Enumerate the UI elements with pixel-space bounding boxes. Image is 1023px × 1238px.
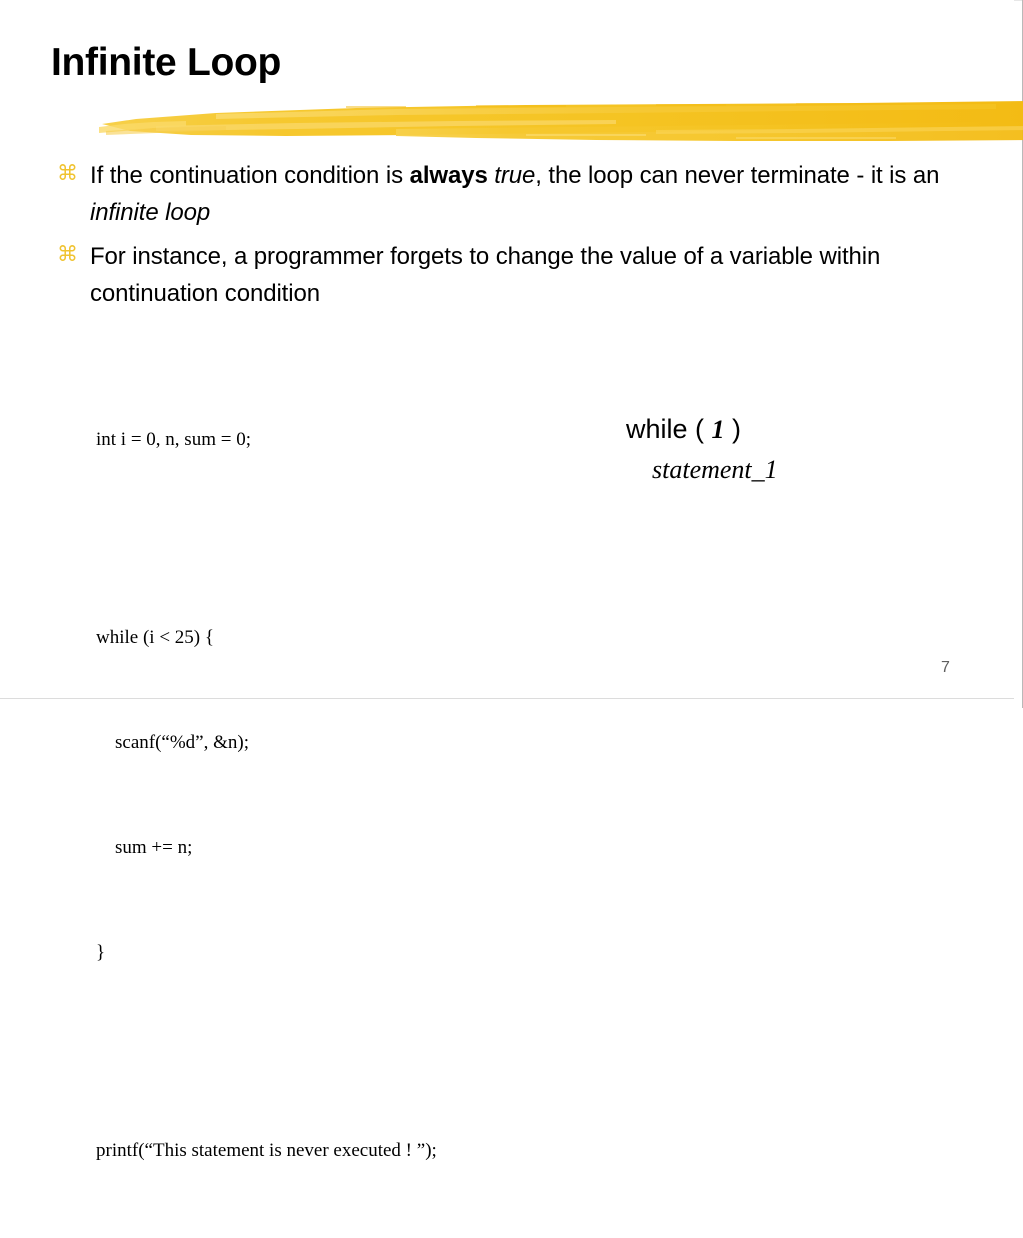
pseudo-open-paren: ( bbox=[688, 414, 712, 444]
code-example-block: int i = 0, n, sum = 0; while (i < 25) { … bbox=[96, 352, 437, 1238]
command-bullet-icon: ⌘ bbox=[57, 238, 90, 270]
list-item: ⌘ For instance, a programmer forgets to … bbox=[57, 238, 957, 312]
pseudo-code-header: while ( 1 ) bbox=[626, 412, 778, 447]
slide-top-border bbox=[1014, 0, 1022, 1]
bullet-segment: , the loop can never terminate - it is a… bbox=[535, 162, 939, 189]
bullet-text: For instance, a programmer forgets to ch… bbox=[90, 238, 957, 312]
pseudo-keyword: while bbox=[626, 414, 688, 444]
bullet-segment-bold: always bbox=[410, 162, 488, 189]
slide-title: Infinite Loop bbox=[51, 43, 281, 84]
code-blank-line bbox=[96, 527, 437, 550]
code-line: } bbox=[96, 935, 437, 970]
list-item: ⌘ If the continuation condition is alway… bbox=[57, 157, 957, 231]
brush-svg bbox=[96, 96, 1023, 148]
pseudo-code-block: while ( 1 ) statement_1 bbox=[626, 412, 778, 487]
code-line: while (i < 25) { bbox=[96, 620, 437, 655]
bullet-segment: If the continuation condition is bbox=[90, 162, 410, 189]
pseudo-condition: 1 bbox=[712, 415, 725, 444]
bullet-segment-italic: true bbox=[494, 162, 535, 189]
pseudo-code-body: statement_1 bbox=[652, 453, 778, 487]
slide-canvas: Infinite Loop bbox=[0, 0, 1023, 708]
command-bullet-icon: ⌘ bbox=[57, 157, 90, 189]
bullet-text: If the continuation condition is always … bbox=[90, 157, 957, 231]
code-line: sum += n; bbox=[96, 830, 437, 865]
yellow-brush-stroke-icon bbox=[96, 96, 1023, 148]
bullet-list: ⌘ If the continuation condition is alway… bbox=[57, 157, 957, 319]
code-line: scanf(“%d”, &n); bbox=[96, 725, 437, 760]
code-line: int i = 0, n, sum = 0; bbox=[96, 422, 437, 457]
page-number: 7 bbox=[941, 659, 950, 677]
code-line: printf(“This statement is never executed… bbox=[96, 1133, 437, 1168]
pseudo-close-paren: ) bbox=[725, 414, 742, 444]
bullet-segment-italic: infinite loop bbox=[90, 199, 210, 226]
code-blank-line bbox=[96, 1040, 437, 1063]
